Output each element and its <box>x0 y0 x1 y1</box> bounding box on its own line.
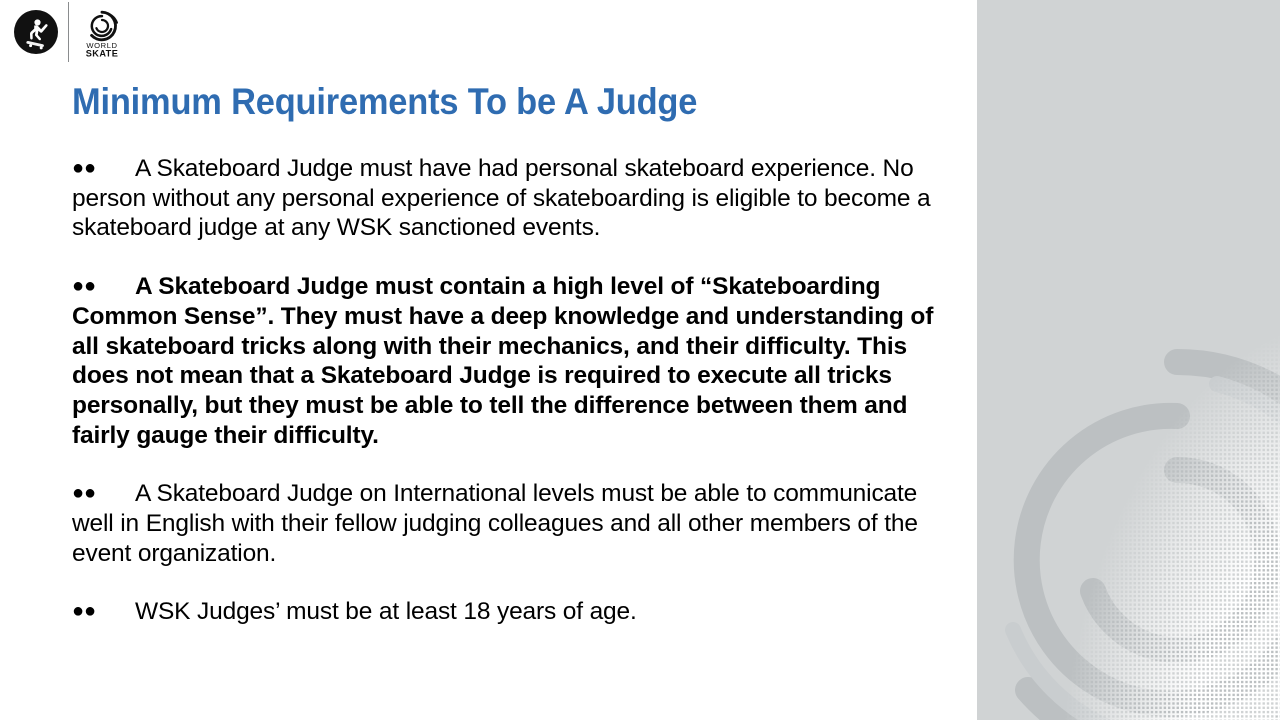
slide-canvas: WORLD SKATE Minimum Requirements To be A… <box>0 0 1280 720</box>
bullet-point-icon: ● <box>72 272 135 302</box>
bullet-paragraph-2: ●A Skateboard Judge must contain a high … <box>72 272 952 450</box>
bullet-paragraph-4: ●WSK Judges’ must be at least 18 years o… <box>72 597 952 627</box>
world-skate-logo: WORLD SKATE <box>80 8 124 60</box>
bullet-point-icon: ● <box>72 154 135 184</box>
page-title: Minimum Requirements To be A Judge <box>72 80 872 124</box>
header-divider <box>68 2 69 62</box>
bullet-paragraph-4-text: WSK Judges’ must be at least 18 years of… <box>135 598 637 625</box>
bullet-paragraph-3: ●A Skateboard Judge on International lev… <box>72 479 952 568</box>
world-skate-spiral-icon <box>92 12 118 40</box>
right-decorative-panel <box>977 0 1280 720</box>
slide-body: ●A Skateboard Judge must have had person… <box>72 154 952 627</box>
bullet-paragraph-1-text: A Skateboard Judge must have had persona… <box>72 155 930 241</box>
world-skate-logo-line2: SKATE <box>86 49 118 59</box>
skateboarder-roundel-icon <box>14 10 58 54</box>
bullet-point-icon: ● <box>72 479 135 509</box>
bullet-paragraph-1: ●A Skateboard Judge must have had person… <box>72 154 952 243</box>
bullet-paragraph-2-text: A Skateboard Judge must contain a high l… <box>72 273 933 449</box>
bullet-point-icon: ● <box>72 597 135 627</box>
halftone-dot-pattern-icon <box>977 0 1280 720</box>
bullet-paragraph-3-text: A Skateboard Judge on International leve… <box>72 480 918 566</box>
slide-header: WORLD SKATE <box>0 0 977 66</box>
